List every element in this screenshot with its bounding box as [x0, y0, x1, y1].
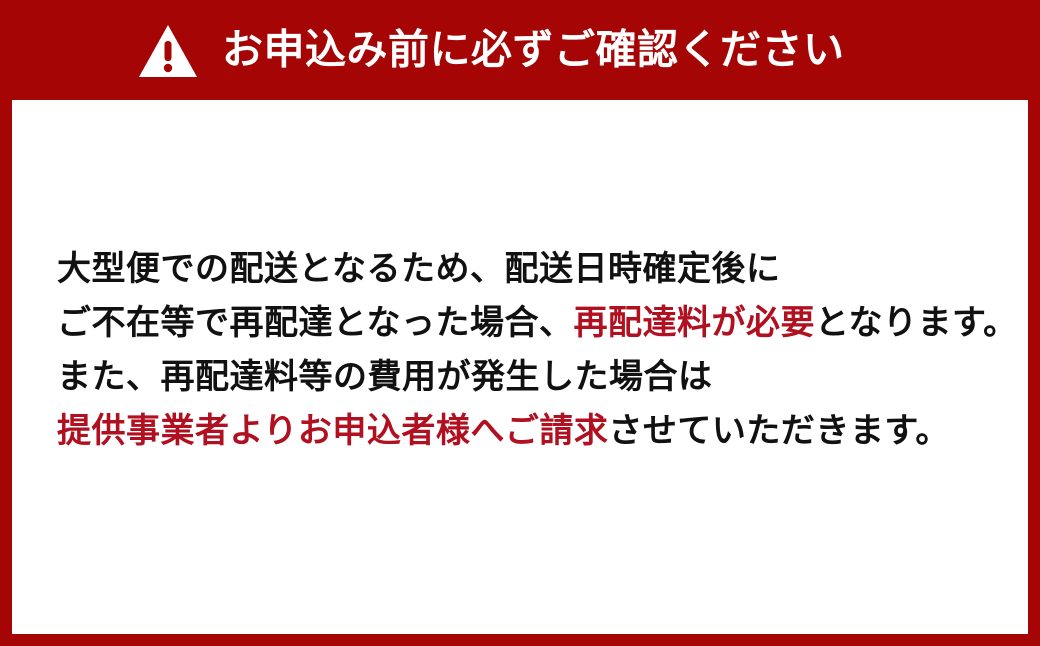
notice-plain-text: また、再配達料等の費用が発生した場合は	[57, 357, 713, 397]
notice-header-bar: お申込み前に必ずご確認ください	[0, 0, 1040, 100]
notice-plain-text: となります。	[815, 303, 1018, 343]
notice-header-title: お申込み前に必ずご確認ください	[222, 30, 845, 71]
notice-emphasis-text: 再配達料が必要	[573, 303, 815, 343]
warning-triangle-icon	[138, 24, 198, 79]
notice-emphasis-text: 提供事業者よりお申込者様へご請求	[57, 411, 608, 451]
notice-plain-text: させていただきます。	[608, 411, 950, 451]
notice-plain-text: 大型便での配送となるため、配送日時確定後に	[57, 249, 780, 289]
notice-line: 提供事業者よりお申込者様へご請求させていただきます。	[57, 404, 997, 458]
notice-line: また、再配達料等の費用が発生した場合は	[57, 350, 997, 404]
notice-text-block: 大型便での配送となるため、配送日時確定後にご不在等で再配達となった場合、再配達料…	[57, 242, 997, 458]
notice-content-panel: 大型便での配送となるため、配送日時確定後にご不在等で再配達となった場合、再配達料…	[12, 100, 1028, 634]
notice-banner: お申込み前に必ずご確認ください 大型便での配送となるため、配送日時確定後にご不在…	[0, 0, 1040, 646]
notice-line: 大型便での配送となるため、配送日時確定後に	[57, 242, 997, 296]
notice-line: ご不在等で再配達となった場合、再配達料が必要となります。	[57, 296, 997, 350]
notice-plain-text: ご不在等で再配達となった場合、	[57, 303, 573, 343]
